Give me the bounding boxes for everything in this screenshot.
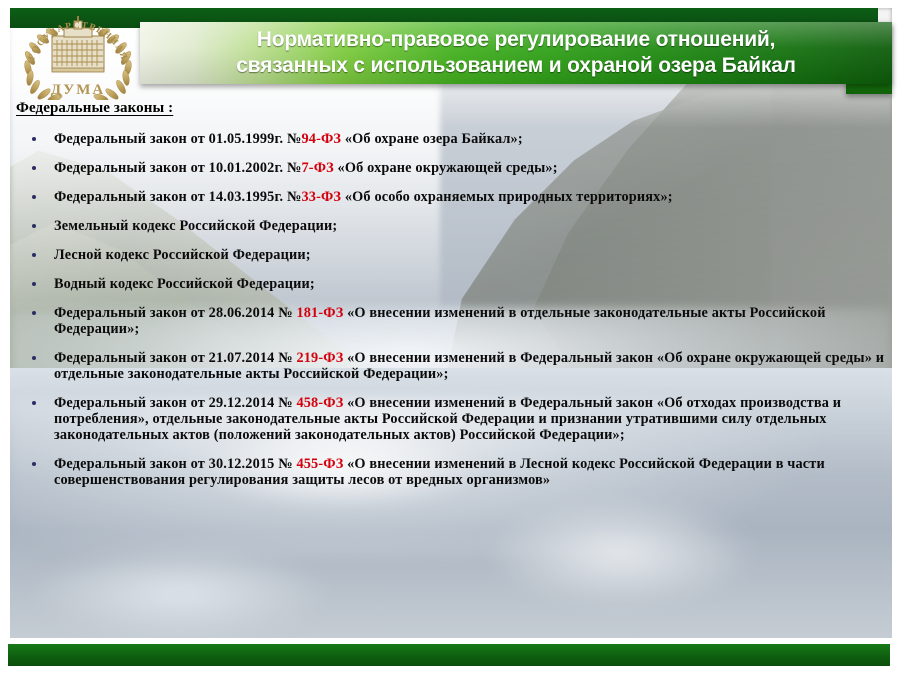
law-prefix: Федеральный закон от 30.12.2015 № — [54, 456, 296, 472]
page-title: Нормативно-правовое регулирование отноше… — [140, 22, 892, 84]
list-item: Федеральный закон от 21.07.2014 № 219-ФЗ… — [14, 350, 886, 382]
law-prefix: Федеральный закон от 10.01.2002г. № — [54, 160, 301, 176]
federal-laws-list: Федеральный закон от 01.05.1999г. №94-ФЗ… — [14, 131, 886, 488]
law-prefix: Федеральный закон от 29.12.2014 № — [54, 395, 296, 411]
list-item: Земельный кодекс Российской Федерации; — [14, 218, 886, 234]
page-title-line-1: Нормативно-правовое регулирование отноше… — [257, 27, 776, 53]
list-item: Федеральный закон от 29.12.2014 № 458-ФЗ… — [14, 395, 886, 443]
law-number: 458-ФЗ — [296, 395, 343, 411]
footer-bar — [8, 644, 890, 666]
law-suffix: «Об охране озера Байкал»; — [341, 131, 523, 147]
page-title-line-2: связанных с использованием и охраной озе… — [236, 53, 796, 79]
list-item: Федеральный закон от 10.01.2002г. №7-ФЗ … — [14, 160, 886, 176]
list-item: Федеральный закон от 28.06.2014 № 181-ФЗ… — [14, 305, 886, 337]
content-area: Федеральные законы : Федеральный закон о… — [0, 100, 900, 501]
title-banner: Нормативно-правовое регулирование отноше… — [140, 22, 892, 84]
list-item: Федеральный закон от 01.05.1999г. №94-ФЗ… — [14, 131, 886, 147]
law-number: 181-ФЗ — [296, 305, 343, 321]
list-item: Лесной кодекс Российской Федерации; — [14, 247, 886, 263]
section-title: Федеральные законы : — [16, 100, 886, 117]
law-number: 94-ФЗ — [301, 131, 341, 147]
law-number: 455-ФЗ — [296, 456, 343, 472]
law-prefix: Федеральный закон от 28.06.2014 № — [54, 305, 296, 321]
law-prefix: Федеральный закон от 14.03.1995г. № — [54, 189, 301, 205]
list-item: Федеральный закон от 30.12.2015 № 455-ФЗ… — [14, 456, 886, 488]
law-prefix: Лесной кодекс Российской Федерации; — [54, 247, 311, 263]
law-prefix: Федеральный закон от 01.05.1999г. № — [54, 131, 301, 147]
slide: Нормативно-правовое регулирование отноше… — [0, 0, 900, 674]
law-prefix: Земельный кодекс Российской Федерации; — [54, 218, 337, 234]
list-item: Водный кодекс Российской Федерации; — [14, 276, 886, 292]
law-number: 33-ФЗ — [301, 189, 341, 205]
law-number: 219-ФЗ — [296, 350, 343, 366]
law-prefix: Федеральный закон от 21.07.2014 № — [54, 350, 296, 366]
law-prefix: Водный кодекс Российской Федерации; — [54, 276, 315, 292]
law-number: 7-ФЗ — [301, 160, 333, 176]
law-suffix: «Об особо охраняемых природных территори… — [341, 189, 673, 205]
list-item: Федеральный закон от 14.03.1995г. №33-ФЗ… — [14, 189, 886, 205]
law-suffix: «Об охране окружающей среды»; — [334, 160, 558, 176]
state-duma-emblem: ГОСУДАРСТВЕННАЯ ДУМА — [14, 2, 142, 100]
emblem-base-text: ДУМА — [51, 82, 106, 98]
